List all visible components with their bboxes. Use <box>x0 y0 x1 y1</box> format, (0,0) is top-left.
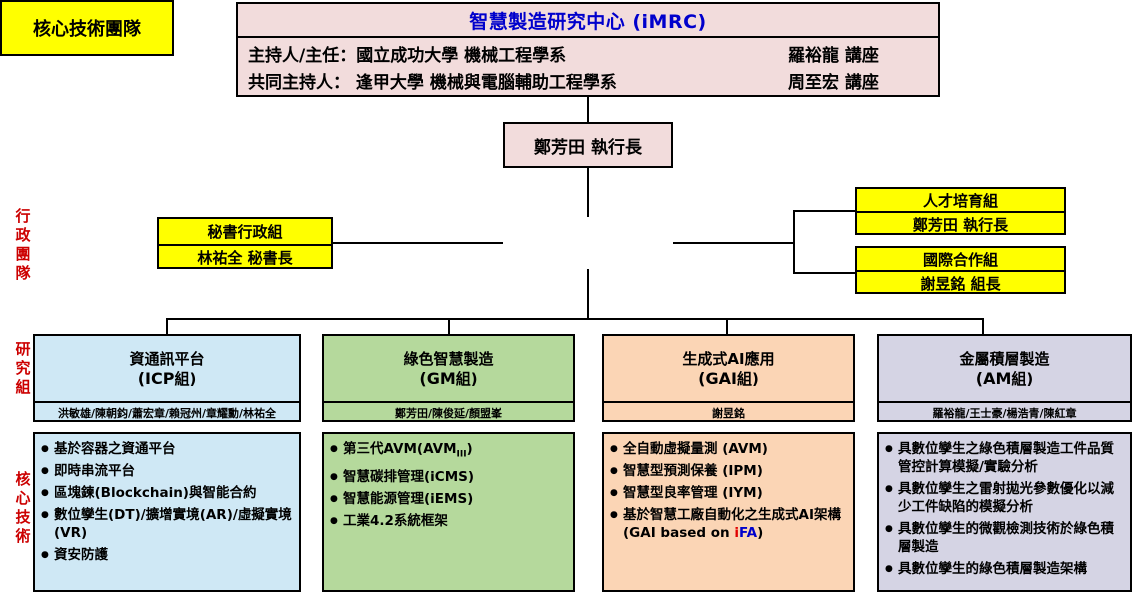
group-card-gm: 綠色智慧製造 (GM組) 鄭芳田/陳俊延/顏盟峯 <box>322 334 575 422</box>
director-list: 主持人/主任：國立成功大學 機械工程學系 羅裕龍 講座 共同主持人： 逢甲大學 … <box>238 38 938 94</box>
list-item: 智慧碳排管理(iCMS) <box>330 468 569 486</box>
tech-list-icp: 基於容器之資通平台 即時串流平台 區塊鍊(Blockchain)與智能合約 數位… <box>41 440 295 564</box>
connector-drop-icp <box>166 318 168 334</box>
list-item: 具數位孿生之雷射拋光參數優化以減少工件缺陷的模擬分析 <box>885 480 1126 516</box>
connector-core-right <box>673 242 795 244</box>
connector-core-down <box>587 269 589 319</box>
group-card-am: 金屬積層製造 (AM組) 羅裕龍/王士豪/楊浩青/陳紅章 <box>877 334 1132 422</box>
side-label-research: 研究組 <box>12 340 34 397</box>
director-name: 周至宏 講座 <box>788 68 879 93</box>
list-item: 具數位孿生的微觀檢測技術於綠色積層製造 <box>885 520 1126 556</box>
group-members-gm: 鄭芳田/陳俊延/顏盟峯 <box>324 403 573 422</box>
secretary-admin-group-box: 秘書行政組 林祐全 秘書長 <box>157 217 333 269</box>
secretary-group-title: 秘書行政組 <box>159 219 331 244</box>
group-name-zh: 生成式AI應用 <box>682 349 774 369</box>
connector-group-bus <box>166 318 984 320</box>
center-name: 智慧製造研究中心 (iMRC) <box>238 4 938 36</box>
group-members-icp: 洪敏雄/陳朝鈞/蕭宏章/賴冠州/章耀勳/林祐全 <box>35 403 299 422</box>
connector-right-talent <box>793 210 857 212</box>
side-label-admin: 行政團隊 <box>12 207 34 283</box>
list-item: 第三代AVM(AVMIII) <box>330 440 569 464</box>
talent-development-group-box: 人才培育組 鄭芳田 執行長 <box>855 187 1066 235</box>
list-item: 具數位孿生之綠色積層製造工件品質管控計算模擬/實驗分析 <box>885 440 1126 476</box>
international-cooperation-group-box: 國際合作組 謝昱銘 組長 <box>855 246 1066 294</box>
list-item: 資安防護 <box>41 546 295 564</box>
connector-drop-gai <box>726 318 728 334</box>
group-code: (GM組) <box>419 369 477 389</box>
list-item: 工業4.2系統框架 <box>330 512 569 530</box>
group-name-zh: 金屬積層製造 <box>959 349 1049 369</box>
group-code: (AM組) <box>976 369 1033 389</box>
content-box-am: 具數位孿生之綠色積層製造工件品質管控計算模擬/實驗分析 具數位孿生之雷射拋光參數… <box>877 432 1132 592</box>
list-item: 基於智慧工廠自動化之生成式AI架構 (GAI based on iFA) <box>610 506 849 542</box>
side-label-core-tech: 核心技術 <box>12 470 34 546</box>
tech-list-am: 具數位孿生之綠色積層製造工件品質管控計算模擬/實驗分析 具數位孿生之雷射拋光參數… <box>885 440 1126 578</box>
intl-group-person: 謝昱銘 組長 <box>857 272 1064 294</box>
talent-group-title: 人才培育組 <box>857 189 1064 211</box>
intl-group-title: 國際合作組 <box>857 248 1064 270</box>
content-box-gai: 全自動虛擬量測 (AVM) 智慧型預測保養 (IPM) 智慧型良率管理 (IYM… <box>602 432 855 592</box>
director-name: 羅裕龍 講座 <box>788 41 879 66</box>
group-code: (ICP組) <box>138 369 197 389</box>
group-members-gai: 謝昱銘 <box>604 403 853 422</box>
group-name-zh: 資通訊平台 <box>129 349 204 369</box>
talent-group-person: 鄭芳田 執行長 <box>857 213 1064 235</box>
connector-exec-core <box>587 168 589 217</box>
connector-secretary-core <box>333 242 503 244</box>
connector-title-exec <box>587 97 589 122</box>
director-role: 主持人/主任：國立成功大學 機械工程學系 <box>248 41 788 66</box>
tech-list-gai: 全自動虛擬量測 (AVM) 智慧型預測保養 (IPM) 智慧型良率管理 (IYM… <box>610 440 849 542</box>
list-item: 區塊鍊(Blockchain)與智能合約 <box>41 484 295 502</box>
connector-right-vertical <box>793 210 795 274</box>
executive-director-box: 鄭芳田 執行長 <box>503 122 673 168</box>
group-head-gai: 生成式AI應用 (GAI組) <box>604 336 853 401</box>
group-members-am: 羅裕龍/王士豪/楊浩青/陳紅章 <box>879 403 1130 422</box>
list-item: 智慧型良率管理 (IYM) <box>610 484 849 502</box>
list-item: 即時串流平台 <box>41 462 295 480</box>
list-item: 智慧能源管理(iEMS) <box>330 490 569 508</box>
center-header-block: 智慧製造研究中心 (iMRC) 主持人/主任：國立成功大學 機械工程學系 羅裕龍… <box>236 2 940 97</box>
director-row: 共同主持人： 逢甲大學 機械與電腦輔助工程學系 周至宏 講座 <box>248 67 938 94</box>
content-box-gm: 第三代AVM(AVMIII) 智慧碳排管理(iCMS) 智慧能源管理(iEMS)… <box>322 432 575 592</box>
group-card-icp: 資通訊平台 (ICP組) 洪敏雄/陳朝鈞/蕭宏章/賴冠州/章耀勳/林祐全 <box>33 334 301 422</box>
list-item: 基於容器之資通平台 <box>41 440 295 458</box>
group-head-am: 金屬積層製造 (AM組) <box>879 336 1130 401</box>
list-item: 數位孿生(DT)/擴增實境(AR)/虛擬實境(VR) <box>41 506 295 542</box>
group-code: (GAI組) <box>698 369 759 389</box>
connector-drop-gm <box>448 318 450 334</box>
connector-drop-am <box>982 318 984 334</box>
connector-right-intl <box>793 272 857 274</box>
group-card-gai: 生成式AI應用 (GAI組) 謝昱銘 <box>602 334 855 422</box>
group-head-gm: 綠色智慧製造 (GM組) <box>324 336 573 401</box>
content-box-icp: 基於容器之資通平台 即時串流平台 區塊鍊(Blockchain)與智能合約 數位… <box>33 432 301 592</box>
core-technology-team-box: 核心技術團隊 <box>0 0 174 56</box>
director-role: 共同主持人： 逢甲大學 機械與電腦輔助工程學系 <box>248 68 788 93</box>
group-name-zh: 綠色智慧製造 <box>403 349 493 369</box>
list-item: 具數位孿生的綠色積層製造架構 <box>885 560 1126 578</box>
director-row: 主持人/主任：國立成功大學 機械工程學系 羅裕龍 講座 <box>248 40 938 67</box>
tech-list-gm: 第三代AVM(AVMIII) 智慧碳排管理(iCMS) 智慧能源管理(iEMS)… <box>330 440 569 530</box>
secretary-group-person: 林祐全 秘書長 <box>159 246 331 269</box>
group-head-icp: 資通訊平台 (ICP組) <box>35 336 299 401</box>
list-item: 智慧型預測保養 (IPM) <box>610 462 849 480</box>
list-item: 全自動虛擬量測 (AVM) <box>610 440 849 458</box>
